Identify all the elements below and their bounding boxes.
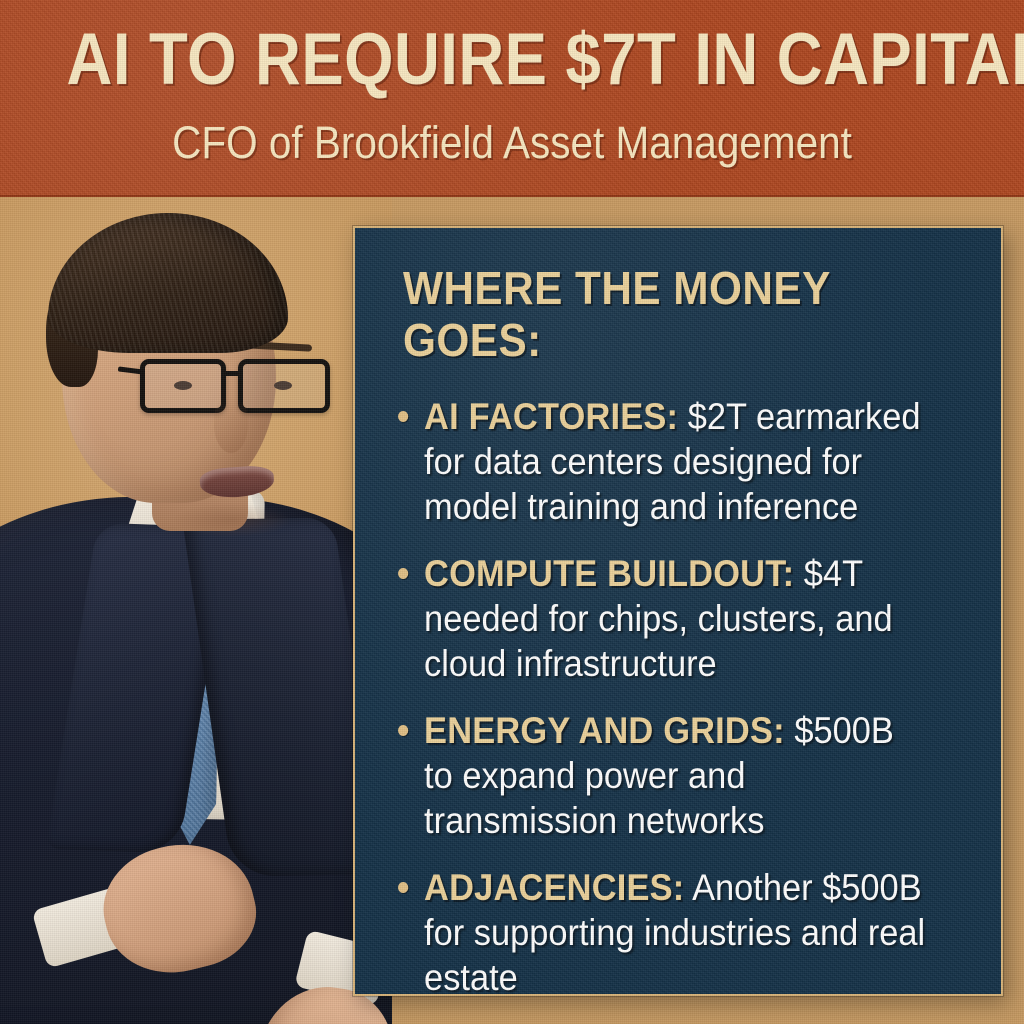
bullet-dot-icon <box>398 725 408 736</box>
infographic-poster: AI TO REQUIRE $7T IN CAPITAL CFO of Broo… <box>0 0 1024 1024</box>
chin-shadow <box>172 503 292 537</box>
panel-heading: WHERE THE MONEY GOES: <box>403 262 926 366</box>
page-subtitle: CFO of Brookfield Asset Management <box>51 118 973 168</box>
list-item: AI FACTORIES: $2T earmarked for data cen… <box>385 394 930 529</box>
list-item: COMPUTE BUILDOUT: $4T needed for chips, … <box>385 551 930 686</box>
bullet-label: ADJACENCIES: <box>424 867 684 908</box>
list-item: ADJACENCIES: Another $500B for supportin… <box>385 865 930 996</box>
eyeglasses-bridge <box>224 371 240 376</box>
list-item: ENERGY AND GRIDS: $500B to expand power … <box>385 708 930 843</box>
eyeglasses-lens-right <box>238 359 330 413</box>
bullet-label: AI FACTORIES: <box>424 396 678 437</box>
money-breakdown-panel: WHERE THE MONEY GOES: AI FACTORIES: $2T … <box>353 226 1003 996</box>
bullet-label: COMPUTE BUILDOUT: <box>424 553 794 594</box>
page-title: AI TO REQUIRE $7T IN CAPITAL <box>67 22 958 98</box>
bullet-label: ENERGY AND GRIDS: <box>424 710 785 751</box>
bullet-dot-icon <box>398 882 408 893</box>
nose <box>214 397 248 453</box>
breakdown-list: AI FACTORIES: $2T earmarked for data cen… <box>385 394 971 996</box>
bullet-dot-icon <box>398 411 408 422</box>
bullet-dot-icon <box>398 568 408 579</box>
header-band: AI TO REQUIRE $7T IN CAPITAL CFO of Broo… <box>0 0 1024 197</box>
eyeglasses-lens-left <box>140 359 226 413</box>
speaker-photo <box>0 197 392 1024</box>
